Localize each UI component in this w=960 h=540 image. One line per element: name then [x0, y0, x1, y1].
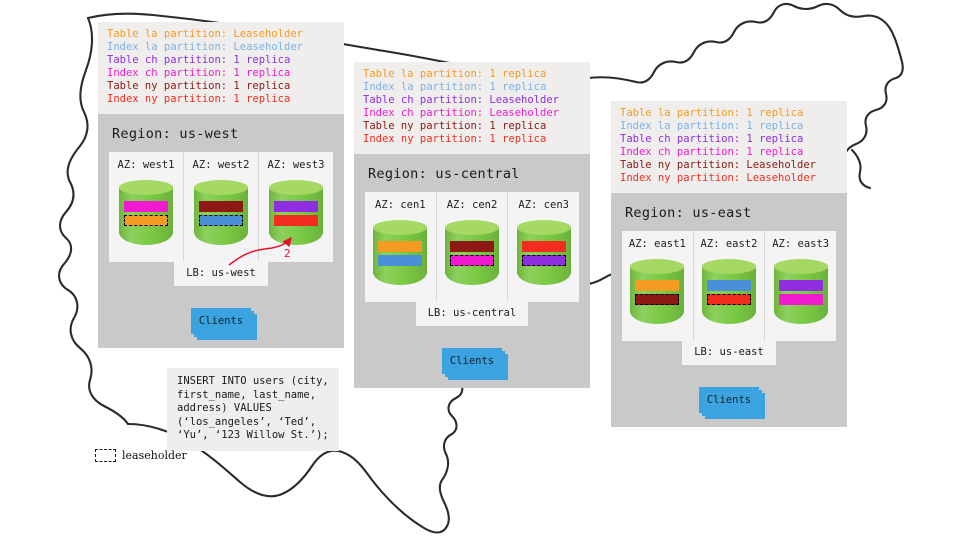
clients-label: Clients — [191, 308, 251, 334]
clients-stack-us-west[interactable]: Clients — [191, 308, 251, 334]
partition-bar — [199, 201, 243, 212]
az-cell-east3[interactable]: AZ: east3 — [765, 231, 836, 341]
legend-line: Index ny partition: 1 replica — [363, 133, 581, 146]
partition-bar — [124, 201, 168, 212]
region-title: Region: us-west — [112, 126, 333, 142]
partition-bar — [378, 241, 422, 252]
partition-legend-us-east: Table la partition: 1 replica Index la p… — [611, 101, 847, 193]
region-title: Region: us-east — [625, 205, 836, 221]
database-cylinder[interactable] — [269, 180, 323, 252]
partition-bar — [779, 294, 823, 305]
region-panel-us-central: Region: us-central AZ: cen1 AZ: cen2 — [354, 154, 590, 388]
legend-line: Index ny partition: 1 replica — [107, 93, 335, 106]
legend-line: Table ny partition: 1 replica — [107, 80, 335, 93]
legend-line: Index la partition: 1 replica — [620, 120, 838, 133]
partition-bar-leaseholder — [635, 294, 679, 305]
sql-insert-note: INSERT INTO users (city, first_name, las… — [167, 368, 339, 451]
partition-bar-leaseholder — [707, 294, 751, 305]
cluster-us-west: Table la partition: Leaseholder Index la… — [98, 22, 344, 348]
partition-bar — [450, 241, 494, 252]
clients-label: Clients — [442, 348, 502, 374]
database-cylinder[interactable] — [119, 180, 173, 252]
az-cell-cen3[interactable]: AZ: cen3 — [508, 192, 579, 302]
az-cell-west1[interactable]: AZ: west1 — [109, 152, 184, 262]
database-cylinder[interactable] — [702, 259, 756, 331]
database-cylinder[interactable] — [630, 259, 684, 331]
cluster-us-central: Table la partition: 1 replica Index la p… — [354, 62, 590, 388]
region-title: Region: us-central — [368, 166, 579, 182]
leaseholder-key: leaseholder — [95, 449, 187, 462]
az-cell-cen1[interactable]: AZ: cen1 — [365, 192, 437, 302]
partition-legend-us-west: Table la partition: Leaseholder Index la… — [98, 22, 344, 114]
database-cylinder[interactable] — [373, 220, 427, 292]
az-cell-west3[interactable]: AZ: west3 — [259, 152, 333, 262]
legend-line: Table la partition: 1 replica — [620, 107, 838, 120]
az-label: AZ: west2 — [193, 159, 250, 171]
legend-line: Index la partition: 1 replica — [363, 81, 581, 94]
load-balancer-us-central[interactable]: LB: us-central — [416, 301, 529, 326]
az-label: AZ: west1 — [118, 159, 175, 171]
partition-bar — [635, 280, 679, 291]
az-strip: AZ: cen1 AZ: cen2 — [365, 192, 579, 302]
az-label: AZ: east1 — [629, 238, 686, 250]
az-label: AZ: cen1 — [375, 199, 426, 211]
region-panel-us-west: Region: us-west AZ: west1 AZ: west2 — [98, 114, 344, 348]
leaseholder-key-label: leaseholder — [122, 449, 187, 462]
database-cylinder[interactable] — [774, 259, 828, 331]
partition-bar-leaseholder — [450, 255, 494, 266]
az-label: AZ: east2 — [701, 238, 758, 250]
legend-line: Table ch partition: 1 replica — [107, 54, 335, 67]
legend-line: Table ch partition: 1 replica — [620, 133, 838, 146]
load-balancer-us-west[interactable]: LB: us-west — [174, 261, 268, 286]
partition-bar — [522, 241, 566, 252]
partition-bar-leaseholder — [124, 215, 168, 226]
partition-bar-leaseholder — [199, 215, 243, 226]
database-cylinder[interactable] — [445, 220, 499, 292]
legend-line: Index ny partition: Leaseholder — [620, 172, 838, 185]
az-label: AZ: west3 — [268, 159, 325, 171]
az-label: AZ: east3 — [772, 238, 829, 250]
load-balancer-us-east[interactable]: LB: us-east — [682, 340, 776, 365]
database-cylinder[interactable] — [194, 180, 248, 252]
clients-stack-us-east[interactable]: Clients — [699, 387, 759, 413]
az-cell-east1[interactable]: AZ: east1 — [622, 231, 694, 341]
legend-line: Table la partition: Leaseholder — [107, 28, 335, 41]
az-strip: AZ: east1 AZ: east2 — [622, 231, 836, 341]
region-panel-us-east: Region: us-east AZ: east1 AZ: east2 — [611, 193, 847, 427]
legend-line: Table ny partition: 1 replica — [363, 120, 581, 133]
clients-stack-us-central[interactable]: Clients — [442, 348, 502, 374]
az-label: AZ: cen3 — [518, 199, 569, 211]
partition-bar — [707, 280, 751, 291]
partition-legend-us-central: Table la partition: 1 replica Index la p… — [354, 62, 590, 154]
legend-line: Index la partition: Leaseholder — [107, 41, 335, 54]
legend-line: Table ch partition: Leaseholder — [363, 94, 581, 107]
annotation-step-2: 2 — [284, 247, 291, 260]
legend-line: Index ch partition: Leaseholder — [363, 107, 581, 120]
clients-label: Clients — [699, 387, 759, 413]
legend-line: Table ny partition: Leaseholder — [620, 159, 838, 172]
legend-line: Index ch partition: 1 replica — [107, 67, 335, 80]
partition-bar — [274, 215, 318, 226]
partition-bar — [274, 201, 318, 212]
partition-bar — [378, 255, 422, 266]
database-cylinder[interactable] — [517, 220, 571, 292]
cluster-us-east: Table la partition: 1 replica Index la p… — [611, 101, 847, 427]
az-label: AZ: cen2 — [447, 199, 498, 211]
legend-line: Table la partition: 1 replica — [363, 68, 581, 81]
dashed-box-icon — [95, 449, 116, 462]
az-cell-east2[interactable]: AZ: east2 — [694, 231, 766, 341]
legend-line: Index ch partition: 1 replica — [620, 146, 838, 159]
az-strip: AZ: west1 AZ: west2 — [109, 152, 333, 262]
partition-bar-leaseholder — [522, 255, 566, 266]
az-cell-west2[interactable]: AZ: west2 — [184, 152, 259, 262]
az-cell-cen2[interactable]: AZ: cen2 — [437, 192, 509, 302]
partition-bar — [779, 280, 823, 291]
